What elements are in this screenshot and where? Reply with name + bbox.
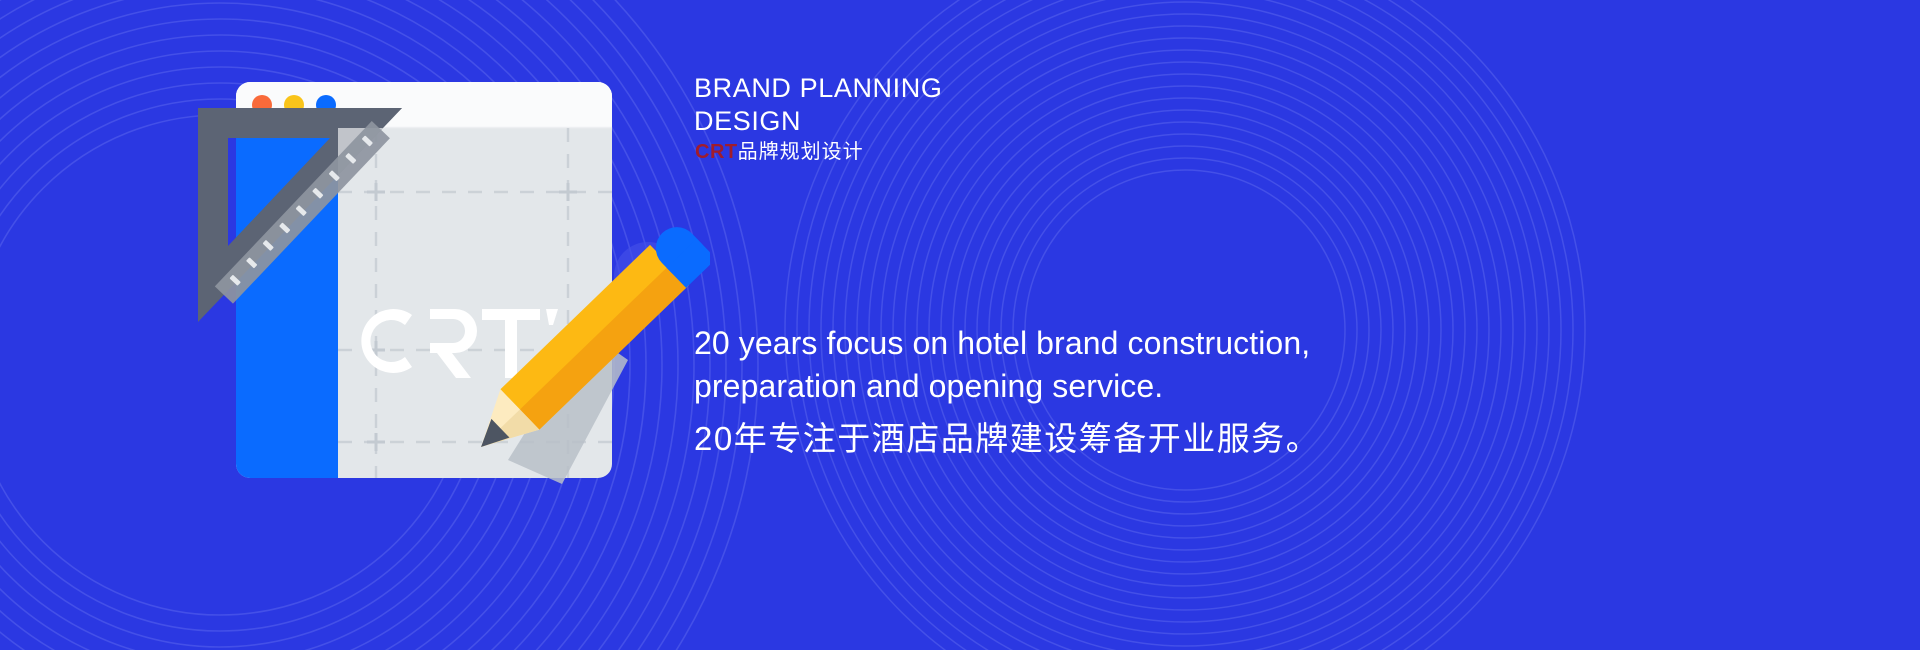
lead-paragraph-english: 20 years focus on hotel brand constructi… [694, 322, 1454, 407]
lead-paragraph-chinese: 20年专注于酒店品牌建设筹备开业服务。 [694, 412, 1320, 460]
sub-headline-brand: CRT [695, 141, 738, 163]
brand-banner: BRAND PLANNING DESIGN CRT品牌规划设计 20 years… [0, 0, 1920, 650]
sub-headline: CRT品牌规划设计 [695, 139, 864, 166]
eyebrow-headline: BRAND PLANNING DESIGN [694, 72, 1254, 138]
hero-illustration [190, 60, 710, 530]
sub-headline-chinese: 品牌规划设计 [738, 141, 864, 163]
banner-text-column: BRAND PLANNING DESIGN CRT品牌规划设计 20 years… [694, 0, 1594, 650]
